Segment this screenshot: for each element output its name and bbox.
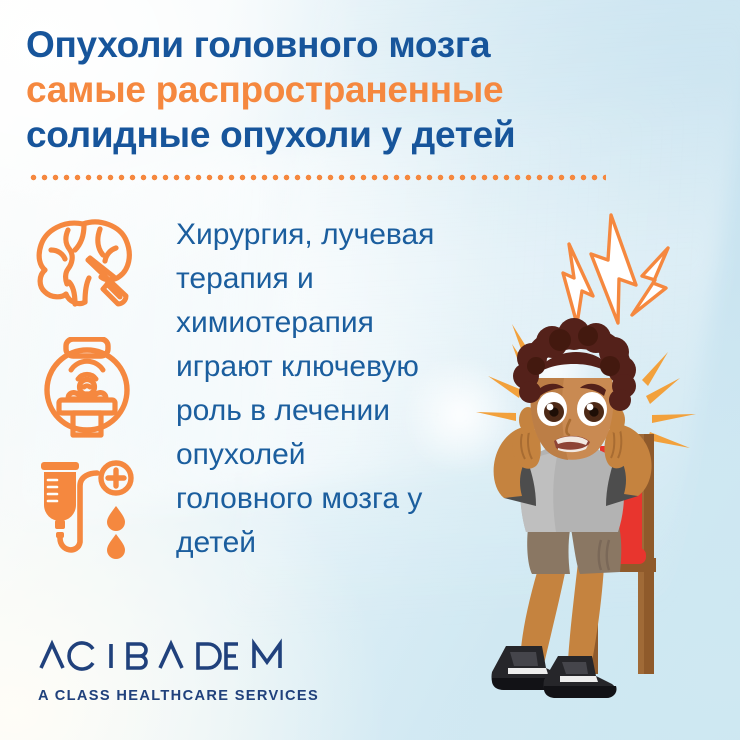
- headline-line-3: солидные опухоли у детей: [26, 112, 706, 157]
- boy-with-headache-illustration: [470, 316, 740, 726]
- body-line: терапия и: [176, 257, 506, 301]
- headline-line-2: самые распространенные: [26, 67, 706, 112]
- body-line: химиотерапия: [176, 301, 506, 345]
- logo-tagline: A CLASS HEALTHCARE SERVICES: [38, 686, 338, 706]
- acibadem-logo: A CLASS HEALTHCARE SERVICES: [38, 636, 338, 706]
- body-line: детей: [176, 521, 506, 565]
- body-line: роль в лечении: [176, 389, 506, 433]
- radiotherapy-icon: [28, 337, 148, 448]
- headline-block: Опухоли головного мозга самые распростра…: [26, 22, 706, 157]
- body-line: Хирургия, лучевая: [176, 213, 506, 257]
- body-paragraph: Хирургия, лучевая терапия и химиотерапия…: [176, 213, 506, 565]
- body-line: играют ключевую: [176, 345, 506, 389]
- logo-wordmark: [38, 636, 338, 684]
- logo-wordmark-svg: [38, 636, 300, 676]
- body-line: опухолей: [176, 433, 506, 477]
- lightning-bolts-icon: [556, 212, 696, 332]
- chemotherapy-iv-icon: [28, 456, 148, 567]
- brain-scalpel-icon: [28, 212, 148, 329]
- body-line: головного мозга у: [176, 477, 506, 521]
- infographic-poster: Опухоли головного мозга самые распростра…: [0, 0, 740, 740]
- dotted-divider: [28, 174, 606, 181]
- treatment-icon-column: [28, 212, 148, 575]
- headline-line-1: Опухоли головного мозга: [26, 22, 706, 67]
